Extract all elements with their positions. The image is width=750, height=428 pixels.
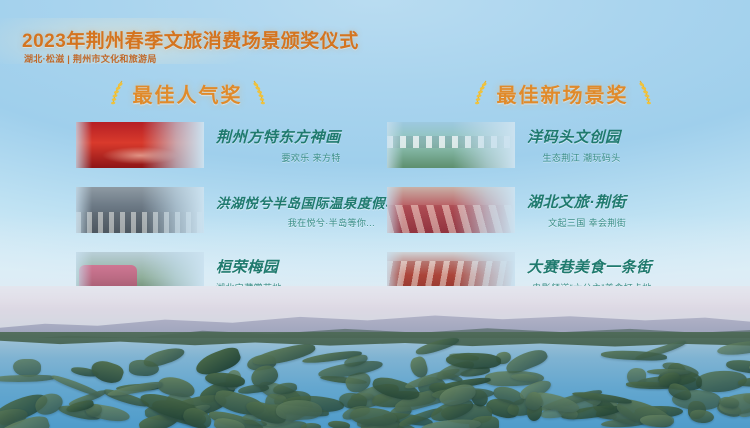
award-list: 荆州方特东方神画 要欢乐 来方特 洪湖悦兮半岛国际温泉度假村 我在悦兮·半岛等你…: [0, 117, 375, 303]
award-title: 最佳新场景奖: [497, 79, 629, 108]
award-list: 洋码头文创园 生态荆江 潮玩码头 湖北文旅·荆街 文起三国 幸会荆街: [375, 117, 750, 303]
aerial-lake-islands-photo: [0, 286, 750, 428]
laurel-branch-icon: [107, 80, 125, 106]
venue-thumbnail: [76, 122, 204, 168]
list-item[interactable]: 洋码头文创园 生态荆江 潮玩码头: [375, 117, 750, 173]
list-item[interactable]: 湖北文旅·荆街 文起三国 幸会荆街: [375, 182, 750, 238]
venue-title: 荆州方特东方神画: [216, 126, 341, 147]
award-column-new-scene: 最佳新场景奖: [375, 75, 750, 300]
venue-subtitle: 生态荆江 潮玩码头: [527, 151, 621, 164]
award-header-popularity: 最佳人气奖: [0, 75, 375, 111]
venue-title: 湖北文旅·荆街: [527, 191, 626, 212]
page-title: 2023年荆州春季文旅消费场景颁奖仪式: [22, 26, 359, 53]
venue-thumbnail: [76, 187, 204, 233]
venue-subtitle: 我在悦兮·半岛等你...: [216, 216, 375, 229]
award-column-popularity: 最佳人气奖: [0, 75, 375, 300]
list-item[interactable]: 荆州方特东方神画 要欢乐 来方特: [0, 117, 375, 173]
poster-header: 2023年荆州春季文旅消费场景颁奖仪式 湖北·松滋 | 荆州市文化和旅游局: [0, 12, 750, 62]
award-header-new-scene: 最佳新场景奖: [375, 75, 750, 111]
award-title: 最佳人气奖: [133, 79, 243, 108]
venue-thumbnail: [387, 122, 515, 168]
venue-subtitle: 要欢乐 来方特: [216, 151, 341, 164]
poster-stage: 2023年荆州春季文旅消费场景颁奖仪式 湖北·松滋 | 荆州市文化和旅游局: [0, 0, 750, 428]
venue-title: 桓荣梅园: [216, 256, 282, 277]
venue-title: 大赛巷美食一条街: [527, 256, 652, 277]
venue-subtitle: 文起三国 幸会荆街: [527, 216, 626, 229]
laurel-branch-icon: [471, 80, 489, 106]
laurel-branch-icon: [637, 80, 655, 106]
laurel-branch-icon: [251, 80, 269, 106]
award-columns: 最佳人气奖: [0, 75, 750, 300]
venue-thumbnail: [387, 187, 515, 233]
venue-title: 洪湖悦兮半岛国际温泉度假村: [216, 192, 375, 212]
venue-title: 洋码头文创园: [527, 126, 621, 147]
list-item[interactable]: 洪湖悦兮半岛国际温泉度假村 我在悦兮·半岛等你...: [0, 182, 375, 238]
page-subtitle: 湖北·松滋 | 荆州市文化和旅游局: [24, 52, 157, 65]
